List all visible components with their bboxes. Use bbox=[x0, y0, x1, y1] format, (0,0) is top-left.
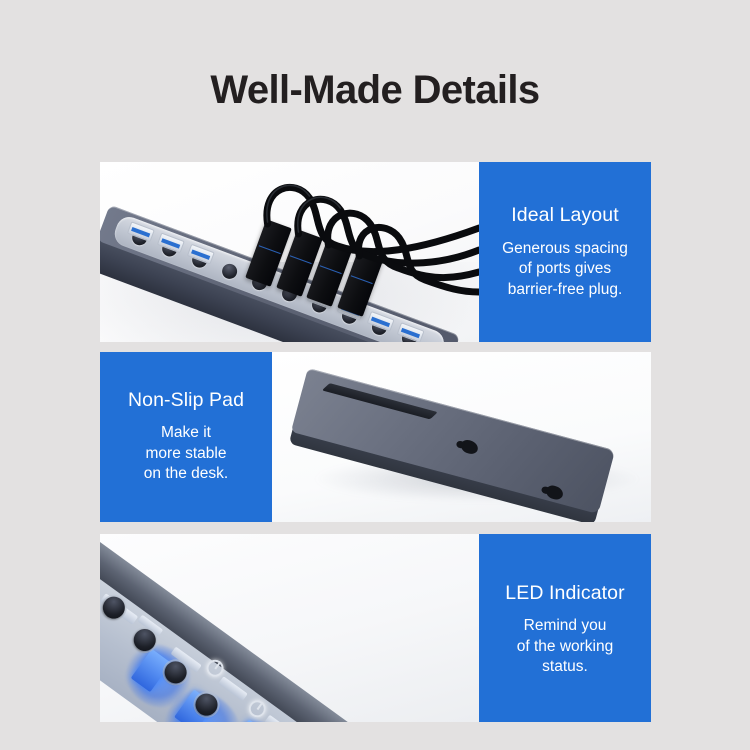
usb-hub-led-glow-photo bbox=[100, 534, 479, 722]
usb-hub-transparent-body bbox=[100, 534, 458, 722]
feature-card-ideal-layout: Ideal Layout Generous spacing of ports g… bbox=[100, 162, 651, 342]
feature-title: Ideal Layout bbox=[511, 204, 618, 227]
feature-description-line: Generous spacing bbox=[502, 239, 628, 260]
feature-description-line: of ports gives bbox=[502, 259, 628, 280]
feature-title: LED Indicator bbox=[505, 582, 624, 605]
product-detail-page: Well-Made Details bbox=[0, 0, 750, 750]
page-title: Well-Made Details bbox=[0, 68, 750, 113]
usb-hub-with-cables-photo bbox=[100, 162, 479, 342]
feature-description-line: of the working bbox=[517, 637, 614, 658]
feature-description-line: status. bbox=[517, 657, 614, 678]
feature-description: Generous spacing of ports gives barrier-… bbox=[502, 239, 628, 301]
feature-description-line: barrier-free plug. bbox=[502, 280, 628, 301]
usb-hub-underside-pads-photo bbox=[272, 352, 651, 522]
feature-description: Remind you of the working status. bbox=[517, 616, 614, 678]
feature-panel-non-slip-pad: Non-Slip Pad Make it more stable on the … bbox=[100, 352, 272, 522]
feature-description-line: Make it bbox=[144, 423, 228, 444]
feature-panel-ideal-layout: Ideal Layout Generous spacing of ports g… bbox=[479, 162, 651, 342]
usb-cables bbox=[100, 162, 479, 342]
feature-description-line: Remind you bbox=[517, 616, 614, 637]
feature-card-led-indicator: LED Indicator Remind you of the working … bbox=[100, 534, 651, 722]
feature-description-line: on the desk. bbox=[144, 464, 228, 485]
feature-description: Make it more stable on the desk. bbox=[144, 423, 228, 485]
feature-card-non-slip-pad: Non-Slip Pad Make it more stable on the … bbox=[100, 352, 651, 522]
feature-title: Non-Slip Pad bbox=[128, 389, 244, 412]
feature-panel-led-indicator: LED Indicator Remind you of the working … bbox=[479, 534, 651, 722]
feature-description-line: more stable bbox=[144, 444, 228, 465]
